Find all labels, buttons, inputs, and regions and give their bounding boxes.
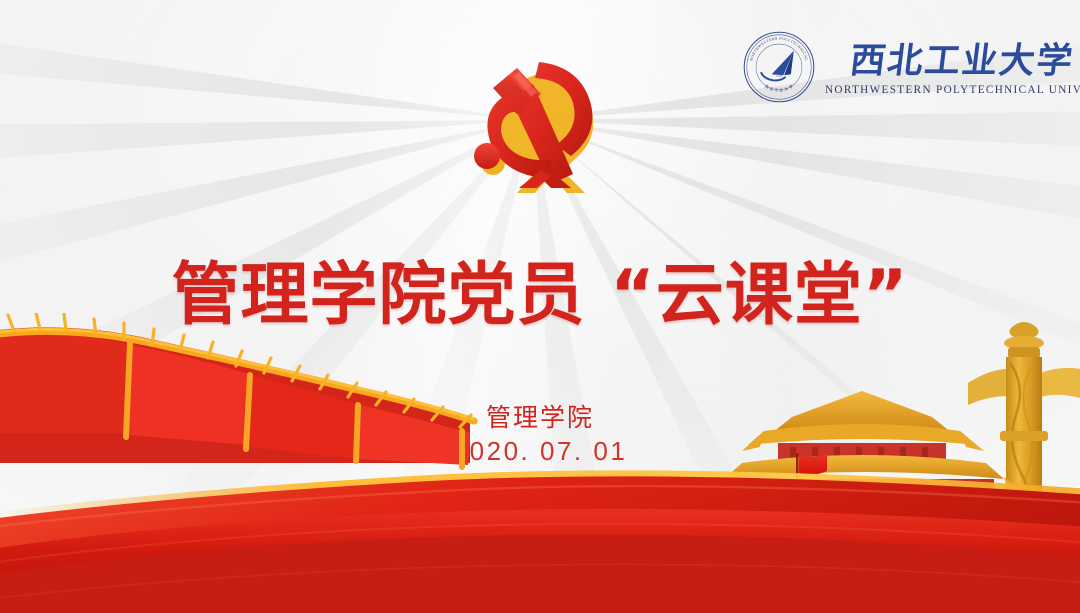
silk-waves — [0, 470, 1080, 613]
bottom-decoration: 中华人民共和国万岁 — [0, 313, 1080, 613]
university-seal-icon: NORTHWESTERN POLYTECHNICAL 西 北 工 业 大 学 1… — [742, 30, 816, 104]
university-name-cn-calligraphy: 西北工业大学 — [825, 39, 1080, 83]
svg-text:1938: 1938 — [776, 74, 782, 78]
svg-text:西 北 工 业 大 学: 西 北 工 业 大 学 — [764, 83, 794, 92]
slide-canvas: NORTHWESTERN POLYTECHNICAL 西 北 工 业 大 学 1… — [0, 0, 1080, 613]
university-name-en: NORTHWESTERN POLYTECHNICAL UNIVERSITY — [825, 84, 1080, 96]
cpc-emblem-icon — [447, 48, 617, 208]
university-logo: NORTHWESTERN POLYTECHNICAL 西 北 工 业 大 学 1… — [742, 30, 1080, 104]
university-name-block: 西北工业大学 NORTHWESTERN POLYTECHNICAL UNIVER… — [825, 39, 1080, 96]
flag-panels — [0, 313, 474, 467]
university-name-cn-text: 西北工业大学 — [848, 40, 1077, 81]
